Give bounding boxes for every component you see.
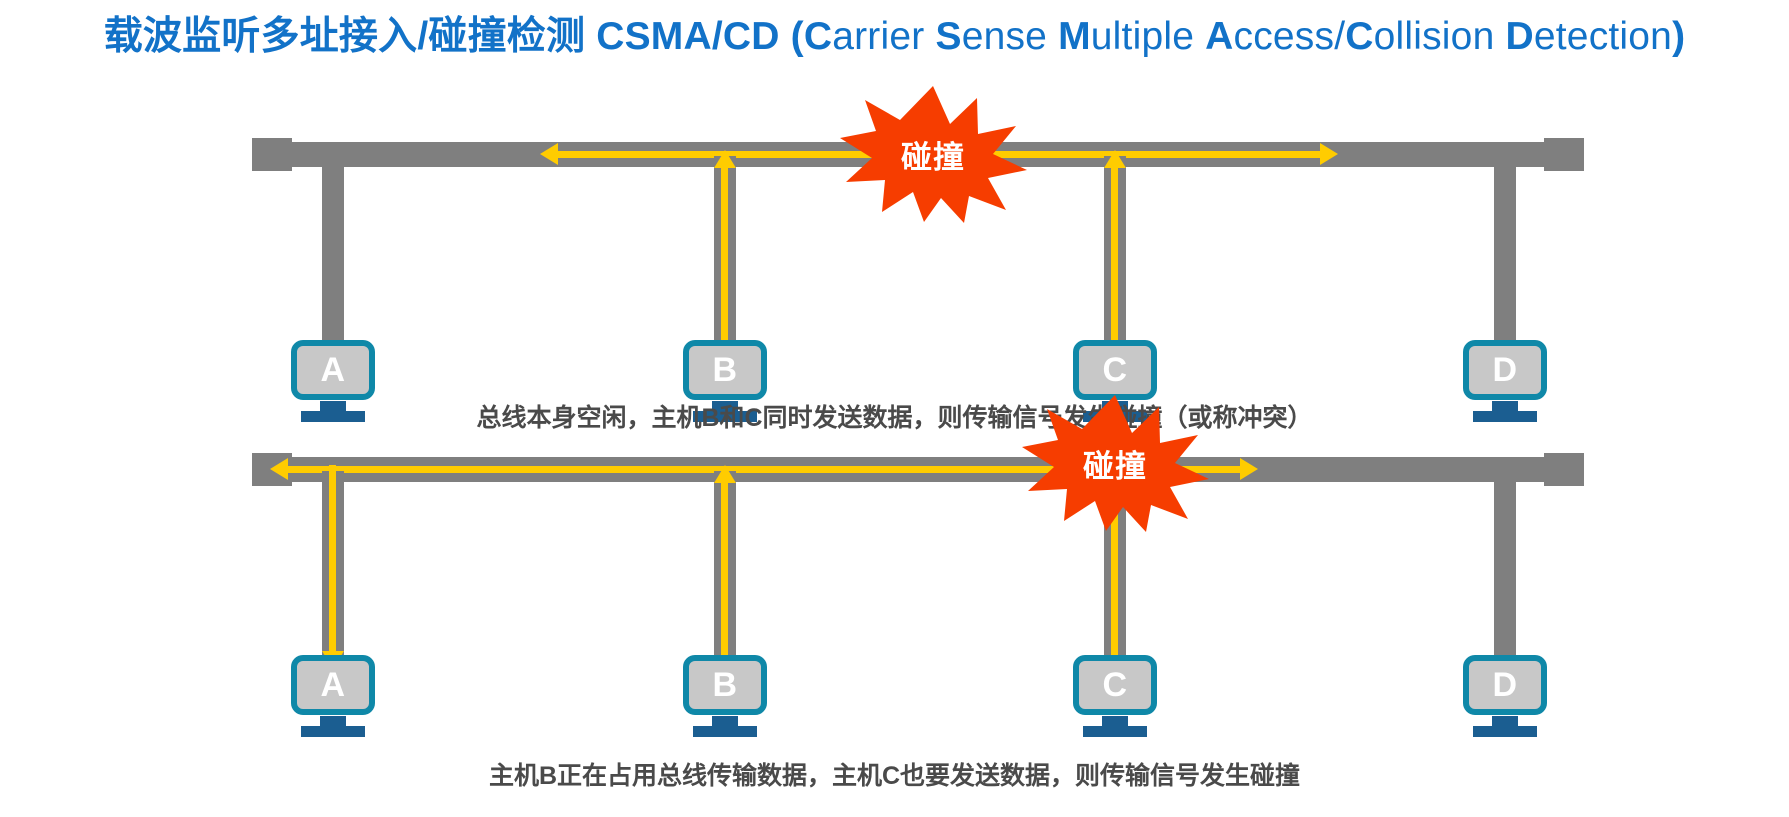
- node-label-c: C: [1102, 353, 1127, 387]
- monitor-icon-c-2: C: [1073, 655, 1157, 715]
- title-cap-4: C: [1345, 15, 1373, 58]
- monitor-icon-d-2: D: [1463, 655, 1547, 715]
- stem-arrow-up-node-b-icon-2: [714, 465, 736, 483]
- title-open-paren: (: [791, 15, 804, 58]
- monitor-icon-b: B: [683, 340, 767, 400]
- starburst-shape-icon: [838, 84, 1028, 224]
- node-label-d-2: D: [1492, 668, 1517, 702]
- collision-starburst-1: 碰撞: [838, 84, 1028, 224]
- bus-arrow-right-icon-2: [1240, 458, 1258, 480]
- title-rest-5: etection: [1534, 15, 1672, 58]
- monitor-neck-b-2: [712, 716, 738, 726]
- monitor-icon-a-2: A: [291, 655, 375, 715]
- diagram-bus-idle-collision: 碰撞 A B C D: [0, 90, 1789, 390]
- node-label-a-2: A: [320, 668, 345, 702]
- diagram-bus-busy-collision: 碰撞 A B C D: [0, 405, 1789, 705]
- monitor-neck-d-2: [1492, 716, 1518, 726]
- monitor-icon-d: D: [1463, 340, 1547, 400]
- title-cap-0: C: [804, 15, 832, 58]
- title-rest-2: ultiple: [1091, 15, 1205, 58]
- node-c-2[interactable]: C: [1073, 655, 1157, 737]
- title-cap-3: A: [1205, 15, 1233, 58]
- monitor-base-a-2: [301, 726, 365, 737]
- bus-terminator-left: [252, 138, 292, 171]
- bus-arrow-left-icon: [540, 143, 558, 165]
- title-rest-3: ccess/: [1234, 15, 1346, 58]
- node-a-2[interactable]: A: [291, 655, 375, 737]
- monitor-base-c-2: [1083, 726, 1147, 737]
- bus-terminator-right-2: [1544, 453, 1584, 486]
- monitor-icon-c: C: [1073, 340, 1157, 400]
- node-label-b: B: [712, 353, 737, 387]
- node-label-b-2: B: [712, 668, 737, 702]
- bus-signal-right: [990, 151, 1320, 158]
- monitor-neck-a-2: [320, 716, 346, 726]
- collision-starburst-2: 碰撞: [1020, 393, 1210, 533]
- bus-arrow-left-icon-2: [270, 458, 288, 480]
- caption-diagram-2: 主机B正在占用总线传输数据，主机C也要发送数据，则传输信号发生碰撞: [0, 760, 1789, 792]
- stem-node-d: [1494, 156, 1516, 371]
- title-rest-1: ense: [962, 15, 1058, 58]
- stem-node-a: [322, 156, 344, 371]
- monitor-base-b-2: [693, 726, 757, 737]
- page-title: 载波监听多址接入/碰撞检测 CSMA/CD (Carrier Sense Mul…: [0, 13, 1789, 61]
- stem-signal-node-a-2: [329, 465, 336, 655]
- stem-arrow-up-node-b-icon: [714, 150, 736, 168]
- monitor-icon-b-2: B: [683, 655, 767, 715]
- bus-terminator-right: [1544, 138, 1584, 171]
- title-cap-5: D: [1506, 15, 1534, 58]
- bus-signal-left-2: [288, 466, 1078, 473]
- monitor-icon-a: A: [291, 340, 375, 400]
- title-rest-0: arrier: [832, 15, 935, 58]
- title-cap-2: M: [1058, 15, 1091, 58]
- monitor-neck-c-2: [1102, 716, 1128, 726]
- node-b-2[interactable]: B: [683, 655, 767, 737]
- title-abbreviation: CSMA/CD: [596, 15, 779, 58]
- starburst-shape-icon-2: [1020, 393, 1210, 533]
- node-d-2[interactable]: D: [1463, 655, 1547, 737]
- monitor-base-d-2: [1473, 726, 1537, 737]
- title-chinese: 载波监听多址接入/碰撞检测: [104, 15, 585, 58]
- bus-arrow-right-icon: [1320, 143, 1338, 165]
- node-label-a: A: [320, 353, 345, 387]
- title-close-paren: ): [1672, 15, 1685, 58]
- stem-node-d-2: [1494, 471, 1516, 686]
- stem-arrow-up-node-c-icon: [1104, 150, 1126, 168]
- node-label-c-2: C: [1102, 668, 1127, 702]
- node-label-d: D: [1492, 353, 1517, 387]
- title-rest-4: ollision: [1374, 15, 1506, 58]
- title-cap-1: S: [935, 15, 961, 58]
